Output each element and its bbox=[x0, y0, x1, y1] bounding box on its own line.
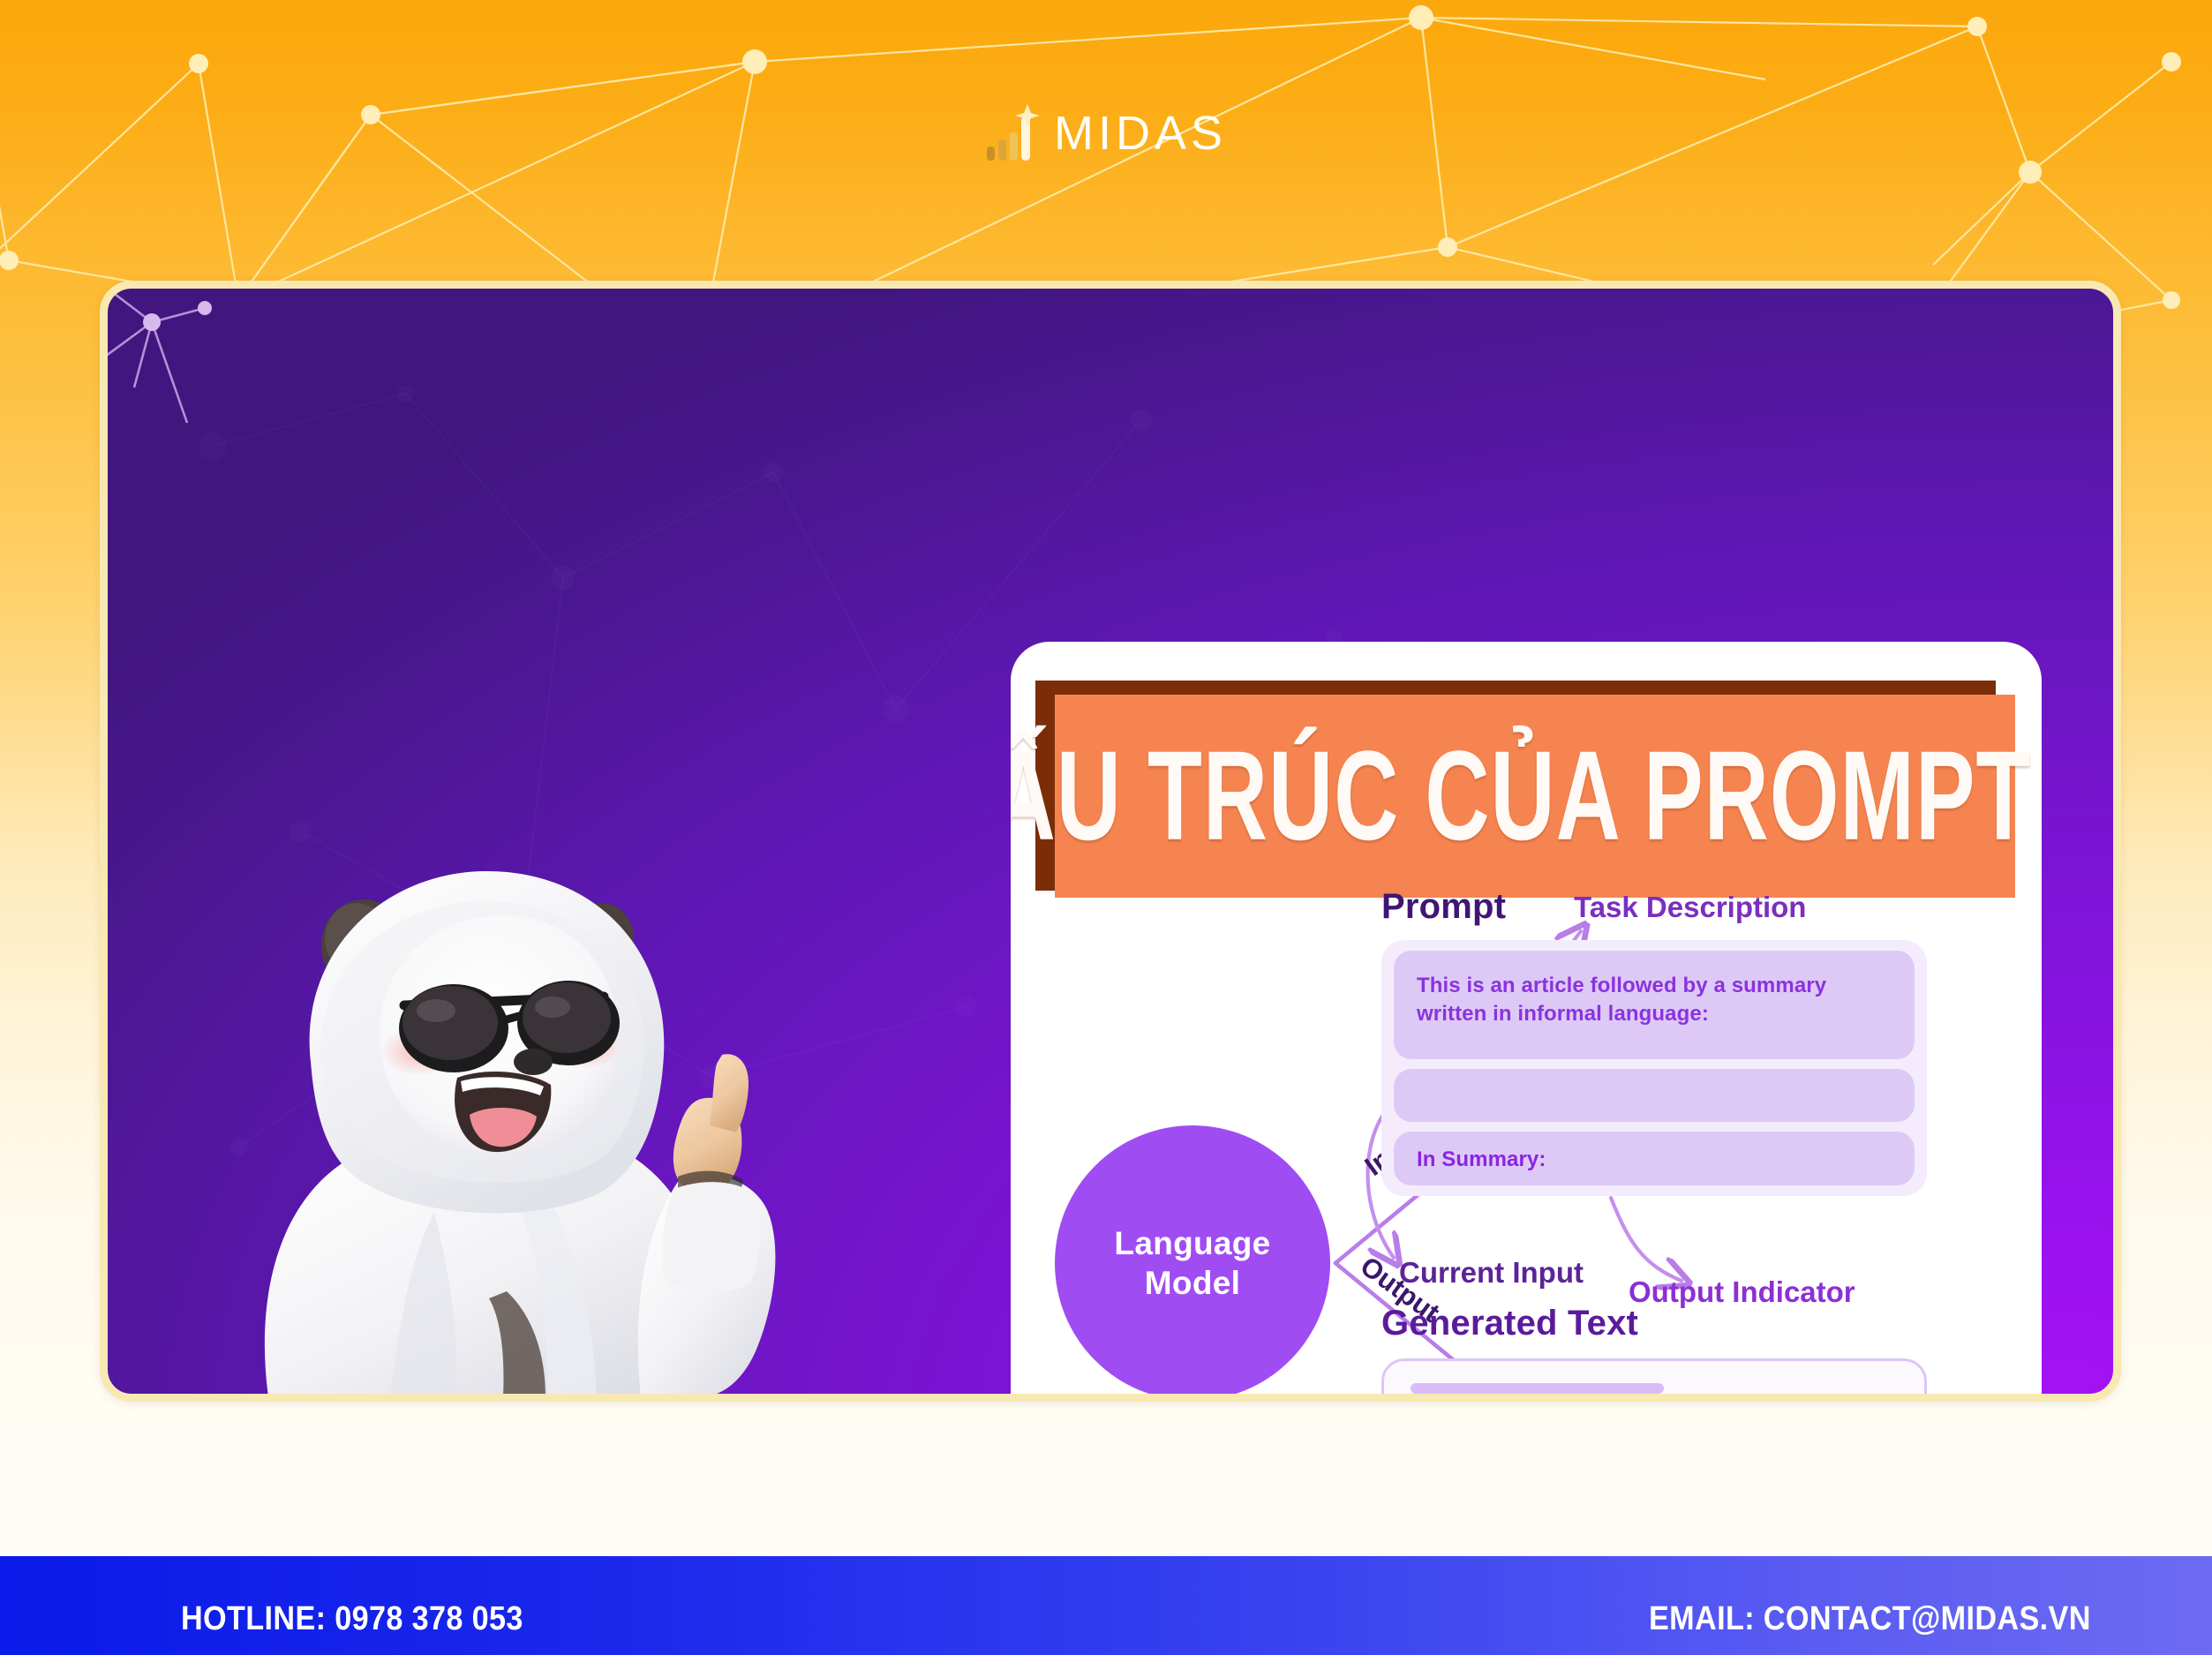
language-model-node: Language Model bbox=[1055, 1125, 1330, 1401]
title-banner-face: CẤU TRÚC CỦA PROMPT AI bbox=[1055, 695, 2015, 898]
language-model-line1: Language bbox=[1114, 1223, 1270, 1263]
generated-text-box bbox=[1381, 1358, 1927, 1402]
content-card: CẤU TRÚC CỦA PROMPT AI bbox=[1011, 642, 2042, 1402]
page-title: CẤU TRÚC CỦA PROMPT AI bbox=[1011, 733, 2042, 860]
title-banner: CẤU TRÚC CỦA PROMPT AI bbox=[1035, 681, 2015, 898]
slide-card: CẤU TRÚC CỦA PROMPT AI bbox=[100, 281, 2121, 1402]
output-indicator-row: In Summary: bbox=[1394, 1132, 1915, 1185]
brand-logo: MIDAS bbox=[0, 104, 2212, 162]
current-input-row bbox=[1394, 1069, 1915, 1122]
slide-page: MIDAS bbox=[0, 0, 2212, 1655]
language-model-line2: Model bbox=[1145, 1263, 1240, 1303]
output-indicator-text: In Summary: bbox=[1417, 1146, 1892, 1174]
prompt-heading: Prompt bbox=[1381, 887, 1506, 927]
contact-footer: HOTLINE: 0978 378 053 EMAIL: CONTACT@MID… bbox=[0, 1556, 2212, 1655]
generated-text-heading: Generated Text bbox=[1381, 1304, 1638, 1343]
card-network-decoration bbox=[100, 282, 470, 599]
current-input-label: Current Input bbox=[1399, 1256, 1584, 1290]
bar-chart-sparkle-icon bbox=[985, 104, 1040, 162]
hotline-text: HOTLINE: 0978 378 053 bbox=[181, 1600, 523, 1638]
task-description-row: This is an article followed by a summary… bbox=[1394, 951, 1915, 1059]
generated-line bbox=[1411, 1383, 1664, 1394]
output-indicator-label: Output Indicator bbox=[1629, 1275, 1855, 1309]
prompt-box: This is an article followed by a summary… bbox=[1381, 940, 1927, 1196]
email-text: EMAIL: CONTACT@MIDAS.VN bbox=[1649, 1600, 2091, 1638]
panda-mascot bbox=[222, 797, 840, 1397]
brand-logo-text: MIDAS bbox=[1054, 109, 1227, 157]
task-description-text: This is an article followed by a summary… bbox=[1417, 972, 1892, 1027]
task-description-label: Task Description bbox=[1574, 891, 1806, 924]
prompt-structure-diagram: Language Model Input Output Prompt Task … bbox=[1011, 906, 2042, 1402]
